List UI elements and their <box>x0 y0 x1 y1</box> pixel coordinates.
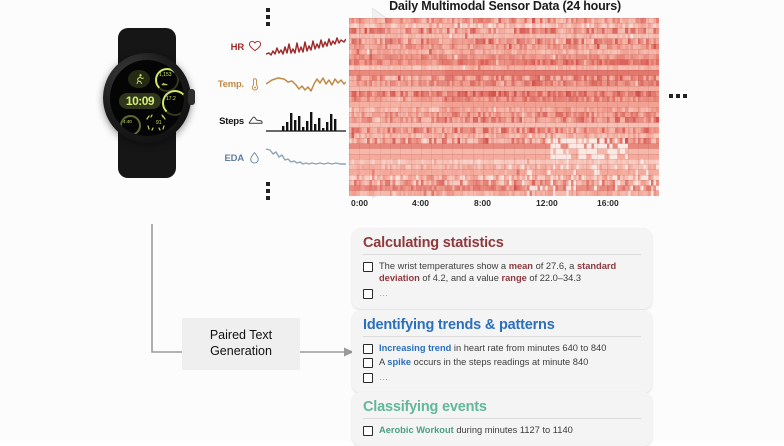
checkbox-icon[interactable] <box>363 373 373 383</box>
watch-face: 1,153 10:09 17.2 4:40 91 <box>110 60 184 136</box>
checkbox-icon[interactable] <box>363 344 373 354</box>
heart-icon <box>248 39 262 55</box>
x-tick-4: 16:00 <box>597 198 619 208</box>
ptg-line-1: Paired Text <box>210 328 272 344</box>
bullet-item: Increasing trend in heart rate from minu… <box>363 342 641 354</box>
sparkline-eda <box>266 145 346 171</box>
sensor-label-eda: EDA <box>210 153 244 164</box>
sparkline-steps <box>266 108 346 134</box>
sensor-list: HR Temp. <box>210 6 350 206</box>
bullet-item: … <box>363 371 641 383</box>
x-tick-2: 8:00 <box>474 198 491 208</box>
bullet-text: Increasing trend in heart rate from minu… <box>379 342 606 354</box>
bullet-list-events: Aerobic Workout during minutes 1127 to 1… <box>363 424 641 436</box>
bullet-list-trends: Increasing trend in heart rate from minu… <box>363 342 641 383</box>
complication-temp-value: 17.2 <box>166 96 176 102</box>
figure-root: 1,153 10:09 17.2 4:40 91 <box>0 0 784 441</box>
watch-body: 1,153 10:09 17.2 4:40 91 <box>103 53 191 143</box>
shoe-icon-watch <box>161 80 168 87</box>
sensor-ellipsis-bottom-icon <box>266 182 270 200</box>
sensor-ellipsis-top-icon <box>266 8 270 26</box>
sensor-row-hr: HR <box>210 32 350 62</box>
sensor-row-eda: EDA <box>210 143 350 173</box>
card-title-events: Classifying events <box>363 399 641 418</box>
sensor-label-steps: Steps <box>210 116 244 127</box>
sensor-row-temp: Temp. <box>210 69 350 99</box>
card-title-stats: Calculating statistics <box>363 235 641 254</box>
water-drop-icon <box>248 150 262 166</box>
heart-rate-icon-watch <box>144 114 168 132</box>
shoe-icon <box>248 113 262 129</box>
sensor-heatmap <box>349 18 659 196</box>
checkbox-icon[interactable] <box>363 289 373 299</box>
card-divider <box>363 254 641 255</box>
card-divider <box>363 336 641 337</box>
complication-battery-value: 4:40 <box>123 119 132 124</box>
bullet-item: The wrist temperatures show a mean of 27… <box>363 260 641 285</box>
sparkline-temp <box>266 71 346 97</box>
checkbox-icon[interactable] <box>363 358 373 368</box>
complication-steps-value: 1,153 <box>159 72 172 78</box>
thermometer-icon <box>248 76 262 92</box>
x-tick-0: 0:00 <box>351 198 368 208</box>
bullet-item: Aerobic Workout during minutes 1127 to 1… <box>363 424 641 436</box>
checkbox-icon[interactable] <box>363 262 373 272</box>
complication-temp-ring <box>162 90 184 116</box>
card-calculating-statistics: Calculating statistics The wrist tempera… <box>352 228 652 309</box>
sparkline-hr <box>266 34 346 60</box>
sensor-label-temp: Temp. <box>210 79 244 90</box>
device-panel: 1,153 10:09 17.2 4:40 91 <box>60 0 350 210</box>
smartwatch: 1,153 10:09 17.2 4:40 91 <box>78 28 208 178</box>
bullet-text: … <box>379 371 389 383</box>
sensor-label-hr: HR <box>210 42 244 53</box>
bullet-text: Aerobic Workout during minutes 1127 to 1… <box>379 424 573 436</box>
bullet-text: A spike occurs in the steps readings at … <box>379 356 588 368</box>
paired-text-generation-box: Paired Text Generation <box>182 318 300 370</box>
x-tick-1: 4:00 <box>412 198 429 208</box>
ptg-line-2: Generation <box>210 344 272 360</box>
heatmap-x-axis: 0:004:008:0012:0016:00 <box>349 198 661 212</box>
card-title-trends: Identifying trends & patterns <box>363 317 641 336</box>
heatmap-panel: Daily Multimodal Sensor Data (24 hours) … <box>349 0 661 212</box>
card-classifying-events: Classifying events Aerobic Workout durin… <box>352 392 652 446</box>
x-tick-3: 12:00 <box>536 198 558 208</box>
sensor-row-steps: Steps <box>210 106 350 136</box>
running-person-icon <box>133 73 145 85</box>
bullet-item: A spike occurs in the steps readings at … <box>363 356 641 368</box>
bullet-item: … <box>363 287 641 299</box>
card-divider <box>363 418 641 419</box>
heatmap-ellipsis-icon <box>669 94 687 98</box>
watch-time: 10:09 <box>119 93 161 109</box>
bullet-text: … <box>379 287 389 299</box>
bullet-list-stats: The wrist temperatures show a mean of 27… <box>363 260 641 299</box>
watch-crown-icon <box>188 89 195 105</box>
bullet-text: The wrist temperatures show a mean of 27… <box>379 260 641 285</box>
card-identifying-trends: Identifying trends & patterns Increasing… <box>352 310 652 393</box>
checkbox-icon[interactable] <box>363 426 373 436</box>
heatmap-title: Daily Multimodal Sensor Data (24 hours) <box>349 0 661 13</box>
